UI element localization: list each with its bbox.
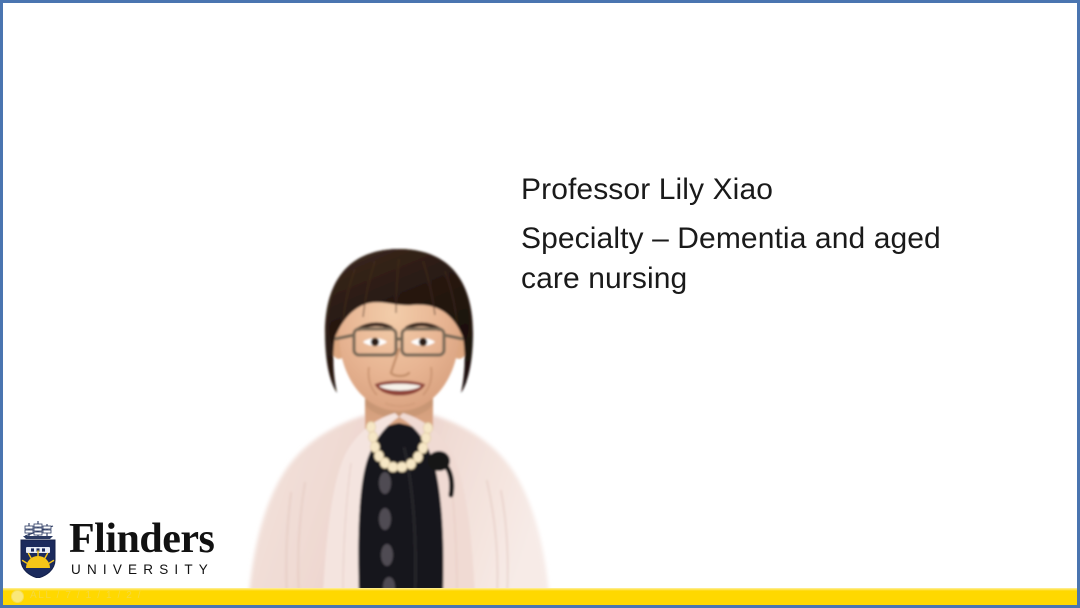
presenter-portrait-icon bbox=[199, 247, 599, 595]
slide-canvas: Professor Lily Xiao Specialty – Dementia… bbox=[3, 3, 1077, 605]
speaker-name: Professor Lily Xiao bbox=[521, 168, 1021, 212]
university-wordmark-text: UNIVERSITY bbox=[71, 563, 214, 577]
presenter-video-figure bbox=[199, 247, 599, 595]
play-badge-icon bbox=[11, 590, 24, 603]
presentation-slide-frame: Professor Lily Xiao Specialty – Dementia… bbox=[0, 0, 1080, 608]
speaker-specialty: Specialty – Dementia and aged care nursi… bbox=[521, 219, 1001, 299]
accent-bar-watermark: ALL / 7 / 1 / 1 / 2 / bbox=[30, 590, 142, 601]
accent-bar-highlight bbox=[3, 588, 1077, 591]
flinders-wordmark: Flinders UNIVERSITY bbox=[69, 520, 214, 578]
flinders-university-logo: Flinders UNIVERSITY bbox=[15, 520, 214, 578]
slide-text-block: Professor Lily Xiao Specialty – Dementia… bbox=[521, 168, 1021, 299]
flinders-wordmark-text: Flinders bbox=[69, 520, 214, 559]
flinders-shield-crest-icon bbox=[15, 520, 61, 578]
ship-icon bbox=[23, 521, 53, 539]
bottom-accent-bar: ALL / 7 / 1 / 1 / 2 / bbox=[3, 588, 1077, 605]
